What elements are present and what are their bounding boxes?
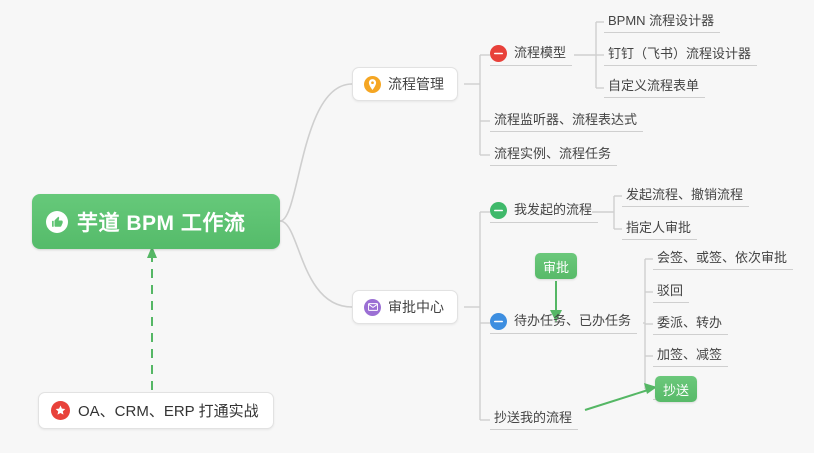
leaf-start-cancel-process[interactable]: 发起流程、撤销流程: [622, 186, 749, 207]
tag-cc[interactable]: 抄送: [655, 376, 697, 402]
thumbs-up-icon: [46, 211, 68, 233]
branch-label: 流程管理: [388, 74, 444, 94]
leaf-process-instance-task[interactable]: 流程实例、流程任务: [490, 145, 617, 166]
tag-approval[interactable]: 审批: [535, 253, 577, 279]
mindmap-canvas: 芋道 BPM 工作流 流程管理 审批中心 OA、CRM、ERP 打通实战 流程模…: [0, 0, 814, 453]
minus-circle-icon: [490, 313, 507, 330]
star-icon: [51, 401, 70, 420]
leaf-my-initiated-process[interactable]: 我发起的流程: [490, 201, 598, 223]
note-node[interactable]: OA、CRM、ERP 打通实战: [38, 392, 274, 429]
leaf-custom-process-form[interactable]: 自定义流程表单: [604, 77, 705, 98]
leaf-reject[interactable]: 驳回: [653, 282, 689, 303]
root-label: 芋道 BPM 工作流: [77, 207, 245, 237]
leaf-process-listener-expression[interactable]: 流程监听器、流程表达式: [490, 111, 643, 132]
leaf-label: 我发起的流程: [514, 201, 592, 219]
leaf-countersign-orsign-sequential[interactable]: 会签、或签、依次审批: [653, 249, 793, 270]
leaf-label: 流程模型: [514, 44, 566, 62]
minus-circle-icon: [490, 45, 507, 62]
branch-node-process-management[interactable]: 流程管理: [352, 67, 458, 101]
leaf-delegate-transfer[interactable]: 委派、转办: [653, 314, 728, 335]
note-label: OA、CRM、ERP 打通实战: [78, 400, 259, 421]
leaf-dingtalk-feishu-designer[interactable]: 钉钉（飞书）流程设计器: [604, 45, 757, 66]
minus-circle-icon: [490, 202, 507, 219]
mail-circle-icon: [364, 299, 381, 316]
leaf-todo-done-tasks[interactable]: 待办任务、已办任务: [490, 312, 637, 334]
location-pin-icon: [364, 76, 381, 93]
leaf-assignee-approval[interactable]: 指定人审批: [622, 219, 697, 240]
branch-node-approval-center[interactable]: 审批中心: [352, 290, 458, 324]
leaf-process-model[interactable]: 流程模型: [490, 44, 572, 66]
leaf-bpmn-designer[interactable]: BPMN 流程设计器: [604, 12, 720, 33]
root-node[interactable]: 芋道 BPM 工作流: [32, 194, 280, 249]
leaf-label: 待办任务、已办任务: [514, 312, 631, 330]
leaf-cc-to-me-process[interactable]: 抄送我的流程: [490, 409, 578, 430]
leaf-add-remove-sign[interactable]: 加签、减签: [653, 346, 728, 367]
branch-label: 审批中心: [388, 297, 444, 317]
